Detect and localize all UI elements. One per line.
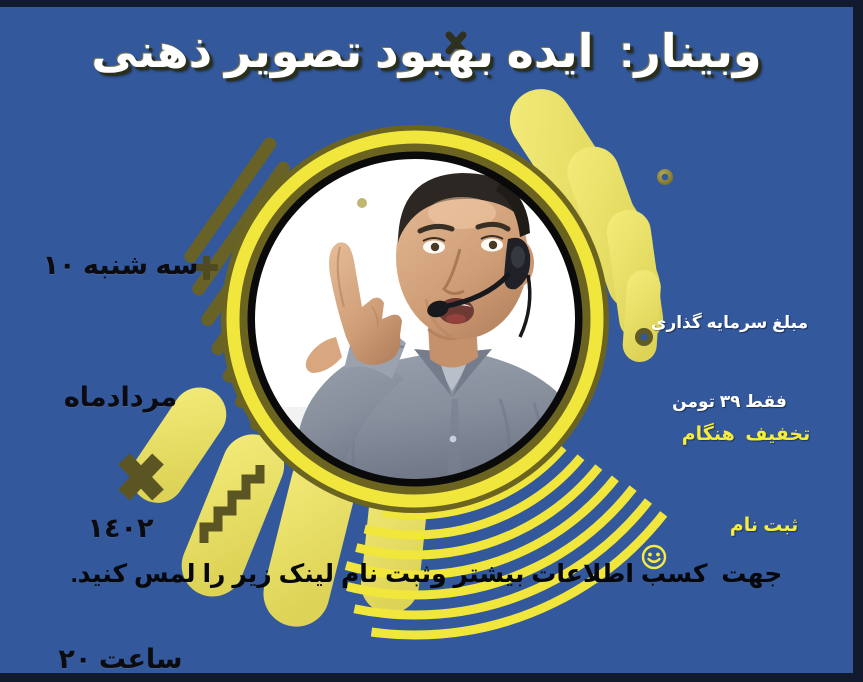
page-title: وبینار: ایده بهبود تصویر ذهنی: [0, 23, 853, 81]
smiley-face-icon: [694, 513, 720, 539]
poster-canvas: وبینار: ایده بهبود تصویر ذهنی سه شنبه ۱۰…: [0, 7, 853, 673]
small-ring-dot: [657, 169, 673, 185]
date-line-4: ساعت ۲۰: [18, 638, 223, 682]
discount-line-2: ثبت نام: [730, 511, 798, 541]
date-time-block: سه شنبه ۱۰ مردادماه ۱٤۰۲ ساعت ۲۰: [18, 157, 223, 682]
cta-text: جهت کسب اطلاعات بیشتر وثبت نام لینک زیر …: [0, 559, 853, 589]
date-line-2: مردادماه: [18, 376, 223, 420]
date-line-1: سه شنبه ۱۰: [18, 244, 223, 288]
webinar-poster: وبینار: ایده بهبود تصویر ذهنی سه شنبه ۱۰…: [0, 0, 863, 682]
discount-line-1: تخفیف هنگام: [651, 420, 841, 450]
date-line-3: ۱٤۰۲: [18, 507, 223, 551]
small-dot: [357, 198, 367, 208]
discount-line-2-row: ثبت نام: [651, 511, 841, 541]
price-label: مبلغ سرمایه گذاری: [622, 310, 837, 336]
